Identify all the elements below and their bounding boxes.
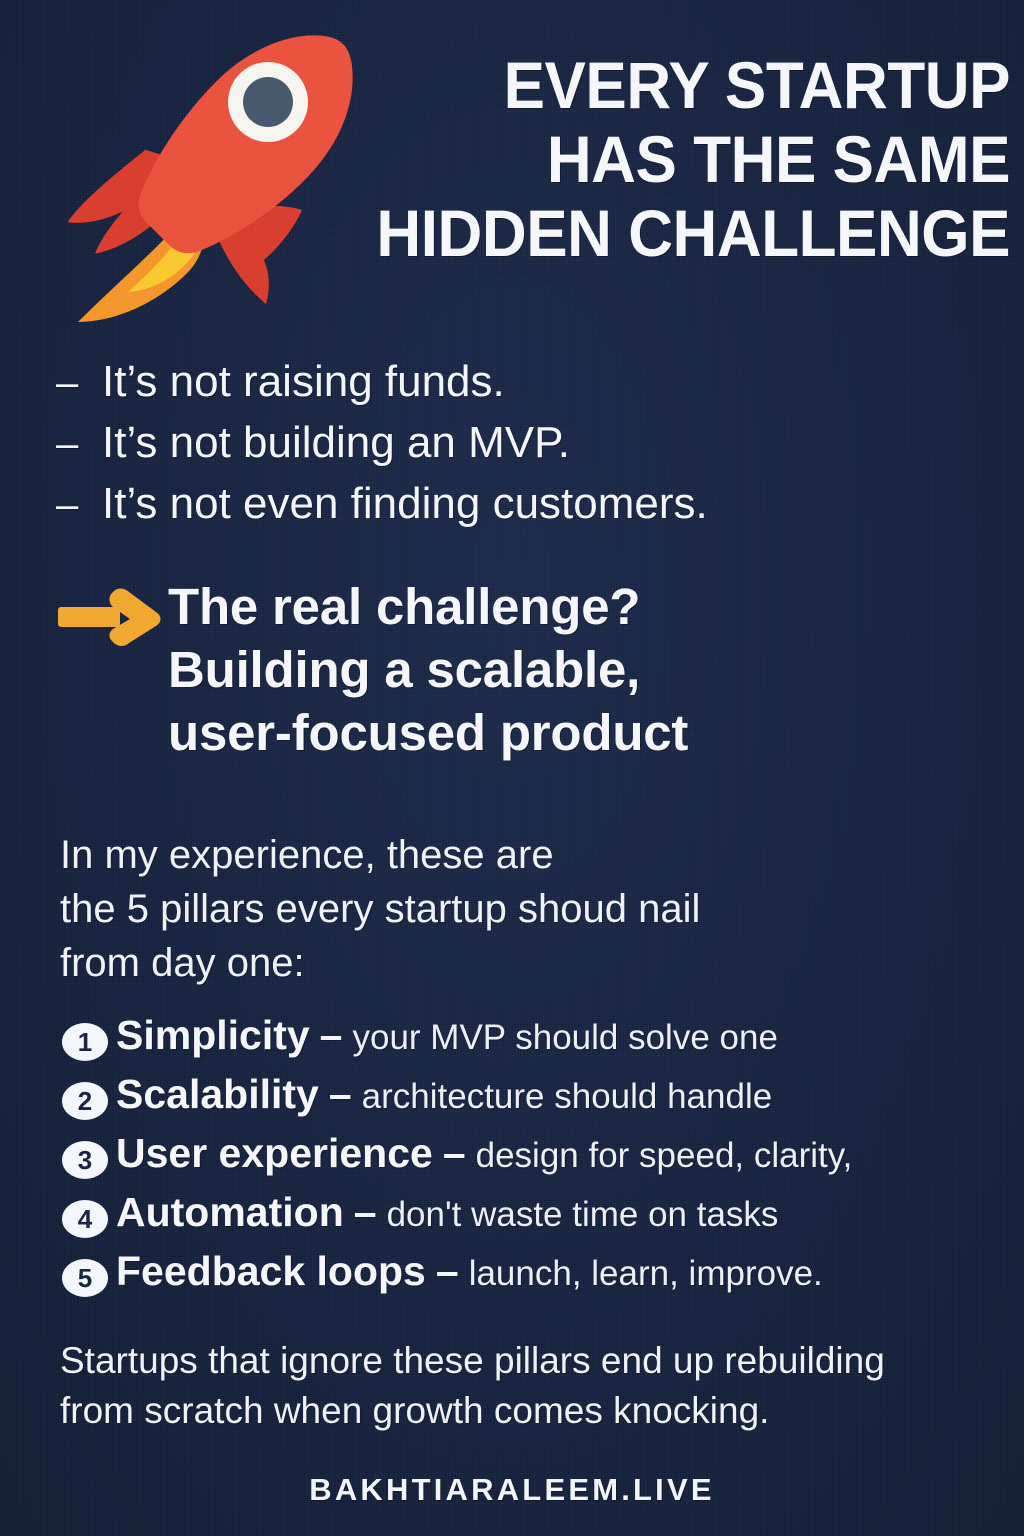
pillar-separator: – — [344, 1189, 387, 1236]
intro-line-3: from day one: — [60, 936, 960, 990]
outro-paragraph: Startups that ignore these pillars end u… — [60, 1336, 1020, 1436]
dash-bullet-icon: – — [56, 476, 102, 535]
pillar-title: Scalability — [116, 1071, 319, 1118]
pillar-number-badge: 3 — [62, 1141, 108, 1179]
list-item: 3 User experience – design for speed, cl… — [62, 1130, 1002, 1189]
challenge-callout: The real challenge? Building a scalable,… — [56, 575, 956, 764]
pillar-separator: – — [433, 1130, 476, 1177]
poster-header: EVERY STARTUP HAS THE SAME HIDDEN CHALLE… — [0, 0, 1024, 340]
challenge-line-2: Building a scalable, — [168, 638, 688, 701]
pillar-separator: – — [319, 1071, 362, 1118]
pillar-description: design for speed, clarity, — [476, 1136, 853, 1176]
dash-bullet-icon: – — [56, 354, 102, 413]
pillar-number-badge: 5 — [62, 1259, 108, 1297]
challenge-text: The real challenge? Building a scalable,… — [168, 575, 688, 764]
page-title: EVERY STARTUP HAS THE SAME HIDDEN CHALLE… — [352, 48, 1010, 270]
outro-line-1: Startups that ignore these pillars end u… — [60, 1336, 1020, 1386]
challenge-line-3: user-focused product — [168, 701, 688, 764]
outro-line-2: from scratch when growth comes knocking. — [60, 1386, 1020, 1436]
negation-list: – It’s not raising funds. – It’s not bui… — [56, 352, 956, 535]
headline-line-2: HAS THE SAME — [352, 122, 1010, 196]
pillar-separator: – — [310, 1012, 353, 1059]
list-item: 2 Scalability – architecture should hand… — [62, 1071, 1002, 1130]
list-item: 5 Feedback loops – launch, learn, improv… — [62, 1248, 1002, 1307]
negation-text: It’s not building an MVP. — [102, 413, 570, 472]
pillar-title: Feedback loops — [116, 1248, 426, 1295]
list-item: – It’s not raising funds. — [56, 352, 956, 413]
pillar-description: architecture should handle — [362, 1077, 773, 1117]
pillar-description: your MVP should solve one — [352, 1018, 777, 1058]
headline-line-3: HIDDEN CHALLENGE — [352, 196, 1010, 270]
pillar-title: Automation — [116, 1189, 344, 1236]
list-item: – It’s not building an MVP. — [56, 413, 956, 474]
pillar-number-badge: 2 — [62, 1082, 108, 1120]
dash-bullet-icon: – — [56, 415, 102, 474]
pillar-description: don't waste time on tasks — [387, 1195, 779, 1235]
poster-canvas: EVERY STARTUP HAS THE SAME HIDDEN CHALLE… — [0, 0, 1024, 1536]
list-item: 1 Simplicity – your MVP should solve one — [62, 1012, 1002, 1071]
intro-paragraph: In my experience, these are the 5 pillar… — [60, 828, 960, 990]
arrow-right-icon — [56, 585, 168, 649]
rocket-icon — [56, 22, 356, 332]
list-item: 4 Automation – don't waste time on tasks — [62, 1189, 1002, 1248]
intro-line-1: In my experience, these are — [60, 828, 960, 882]
headline-line-1: EVERY STARTUP — [352, 48, 1010, 122]
list-item: – It’s not even finding customers. — [56, 474, 956, 535]
pillar-description: launch, learn, improve. — [469, 1254, 823, 1294]
pillar-title: Simplicity — [116, 1012, 310, 1059]
negation-text: It’s not raising funds. — [102, 352, 505, 411]
pillar-separator: – — [426, 1248, 469, 1295]
negation-text: It’s not even finding customers. — [102, 474, 708, 533]
intro-line-2: the 5 pillars every startup shoud nail — [60, 882, 960, 936]
pillar-number-badge: 1 — [62, 1023, 108, 1061]
pillars-list: 1 Simplicity – your MVP should solve one… — [62, 1012, 1002, 1307]
pillar-number-badge: 4 — [62, 1200, 108, 1238]
footer-website[interactable]: BAKHTIARALEEM.LIVE — [0, 1472, 1024, 1508]
challenge-line-1: The real challenge? — [168, 575, 688, 638]
pillar-title: User experience — [116, 1130, 433, 1177]
